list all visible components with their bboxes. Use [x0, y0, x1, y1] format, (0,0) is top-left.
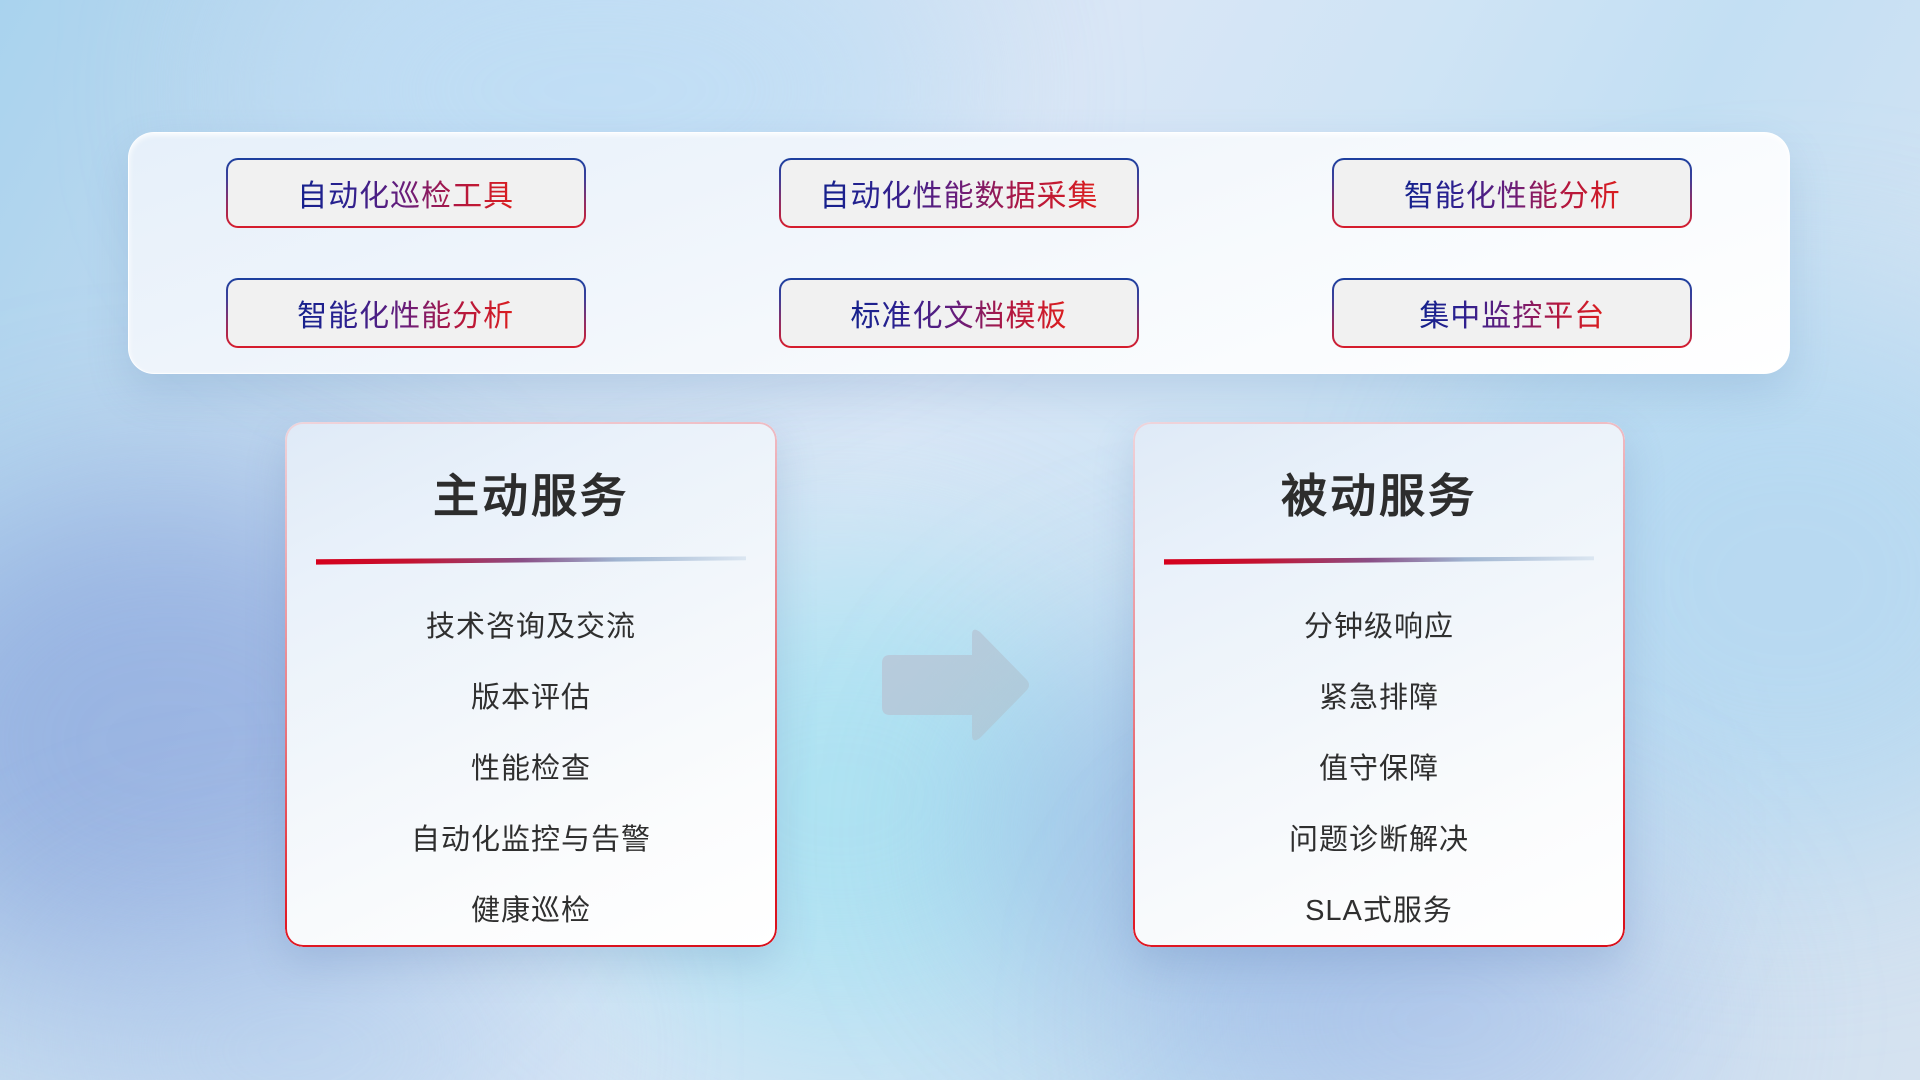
capability-pill[interactable]: 标准化文档模板 — [781, 280, 1137, 346]
capability-pill-label: 标准化文档模板 — [850, 291, 1067, 335]
card-divider — [316, 556, 746, 566]
capability-pill[interactable]: 自动化巡检工具 — [228, 160, 584, 226]
list-item: 分钟级响应 — [1304, 592, 1454, 663]
list-item: 值守保障 — [1319, 734, 1439, 805]
slide-canvas: 自动化巡检工具 自动化性能数据采集 智能化性能分析 智能化性能分析 标准化文档模… — [0, 0, 1920, 1080]
capability-pill[interactable]: 自动化性能数据采集 — [781, 160, 1137, 226]
list-item: 健康巡检 — [471, 876, 591, 947]
capabilities-panel: 自动化巡检工具 自动化性能数据采集 智能化性能分析 智能化性能分析 标准化文档模… — [128, 132, 1790, 374]
capability-pill-label: 自动化巡检工具 — [297, 171, 514, 215]
list-item: SLA式服务 — [1305, 876, 1453, 947]
capability-pill-label: 自动化性能数据采集 — [819, 171, 1098, 215]
list-item: 性能检查 — [471, 734, 591, 805]
capability-pill[interactable]: 智能化性能分析 — [228, 280, 584, 346]
service-card-passive: 被动服务 分钟级响应 紧急排障 值守保障 问题诊断解决 — [1133, 422, 1625, 947]
capability-pill-label: 集中监控平台 — [1419, 291, 1605, 335]
arrow-right-icon — [876, 625, 1032, 745]
capability-pill-label: 智能化性能分析 — [1404, 171, 1621, 215]
card-item-list: 分钟级响应 紧急排障 值守保障 问题诊断解决 SLA式服务 — [1133, 592, 1625, 947]
list-item: 紧急排障 — [1319, 663, 1439, 734]
list-item: 问题诊断解决 — [1289, 805, 1469, 876]
list-item: 版本评估 — [471, 663, 591, 734]
card-title: 被动服务 — [1133, 460, 1625, 526]
list-item: 技术咨询及交流 — [426, 592, 636, 663]
card-item-list: 技术咨询及交流 版本评估 性能检查 自动化监控与告警 健康巡检 — [285, 592, 777, 947]
card-title: 主动服务 — [285, 460, 777, 526]
capability-pill-label: 智能化性能分析 — [297, 291, 514, 335]
capability-pill[interactable]: 智能化性能分析 — [1334, 160, 1690, 226]
list-item: 自动化监控与告警 — [411, 805, 651, 876]
service-card-active: 主动服务 技术咨询及交流 版本评估 性能检查 自动化监控与告警 — [285, 422, 777, 947]
capabilities-grid: 自动化巡检工具 自动化性能数据采集 智能化性能分析 智能化性能分析 标准化文档模… — [129, 133, 1789, 373]
card-divider — [1164, 556, 1594, 566]
capability-pill[interactable]: 集中监控平台 — [1334, 280, 1690, 346]
